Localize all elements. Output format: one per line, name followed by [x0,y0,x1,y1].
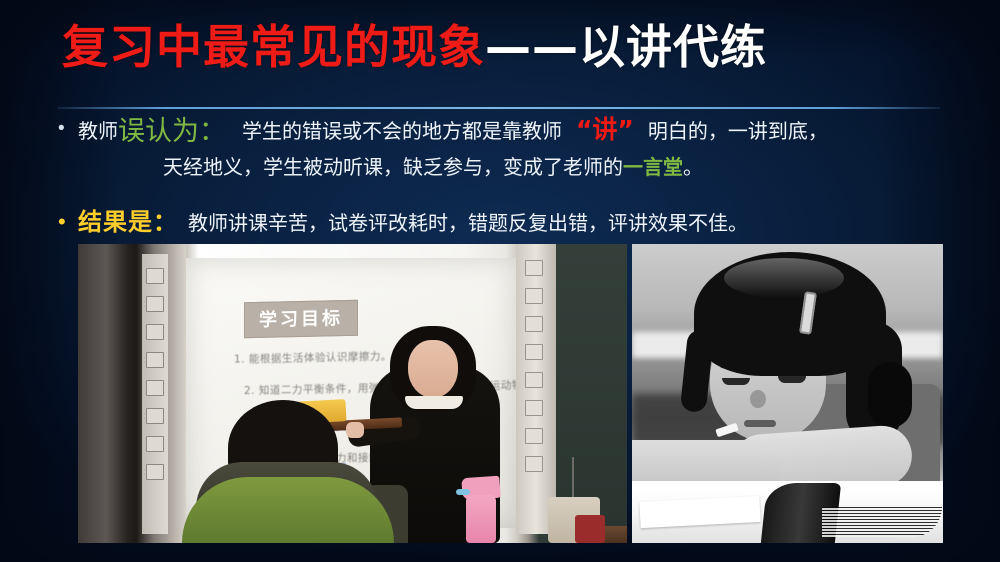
bullet-item-result: • 结果是：教师讲课辛苦，试卷评改耗时，错题反复出错，评讲效果不佳。 [58,204,958,243]
girl-hair-highlight [724,258,844,298]
page-title: 复习中最常见的现象——以讲代练 [62,22,767,73]
whiteboard-tool-icon [525,372,543,388]
bored-student-photo [632,244,943,543]
spray-bottle [466,495,496,543]
bezel-icon [146,380,164,396]
whiteboard-tool-icon [525,316,543,332]
whiteboard-tool-icon [525,288,543,304]
slide-canvas: 复习中最常见的现象——以讲代练 • 教师误认为：学生的错误或不会的地方都是靠教师… [0,0,1000,562]
bullet1-emphasis-yiyantang: 一言堂 [623,155,683,179]
bullet-marker-result: • [58,204,78,240]
title-divider [58,107,940,109]
bullet-marker: • [58,112,78,146]
spray-bottle-trigger [456,489,470,495]
red-object [575,515,605,543]
whiteboard-tool-icon [525,260,543,276]
teacher-collar [405,396,463,409]
bullet1-lead-green: 误认为： [118,116,226,147]
bezel-icon [146,324,164,340]
bullet1-line2-body-a: 天经地义，学生被动听课，缺乏参与，变成了老师的 [163,155,623,179]
whiteboard-line-1: 1. 能根据生活体验认识摩擦力。 [234,348,392,366]
girl-eye-right [778,376,806,383]
teacher-hand [346,422,364,438]
girl-mouth [744,420,776,427]
girl-nose [750,390,766,408]
classroom-photo: 学习目标 1. 能根据生活体验认识摩擦力。 2. 知道二力平衡条件，用弹簧测力计… [78,244,627,543]
whiteboard-heading: 学习目标 [244,300,358,338]
bullet-item-misconception: • 教师误认为：学生的错误或不会的地方都是靠教师“讲”明白的，一讲到底， 天经地… [58,112,958,186]
bullet2-label: 结果是： [78,208,178,236]
bezel-icon [146,436,164,452]
bezel-icon [146,352,164,368]
bullet1-emphasis-jiang: “讲” [572,115,638,144]
title-red-part: 复习中最常见的现象 [62,20,485,74]
bullet1-body-a: 学生的错误或不会的地方都是靠教师 [242,119,562,143]
whiteboard-tool-icon [525,344,543,360]
photo-row: 学习目标 1. 能根据生活体验认识摩擦力。 2. 知道二力平衡条件，用弹簧测力计… [78,244,943,543]
bezel-icon [146,268,164,284]
whiteboard-tool-icon [525,456,543,472]
content-body: • 教师误认为：学生的错误或不会的地方都是靠教师“讲”明白的，一讲到底， 天经地… [58,112,958,243]
bezel-icon [146,464,164,480]
bullet1-line2-body-b: 。 [683,155,703,179]
bullet1-body-b: 明白的，一讲到底， [648,119,828,143]
whiteboard-tool-icon [525,400,543,416]
title-white-part: ——以讲代练 [485,20,767,74]
bullet2-line: 结果是：教师讲课辛苦，试卷评改耗时，错题反复出错，评讲效果不佳。 [78,204,958,243]
chalkboard [556,244,627,526]
bezel-icon [146,408,164,424]
teacher-face [408,340,458,398]
girl-braid-right-lower [868,362,912,428]
student-jacket [182,477,394,543]
bullet2-text: 教师讲课辛苦，试卷评改耗时，错题反复出错，评讲效果不佳。 [188,211,748,235]
bullet1-line2: 天经地义，学生被动听课，缺乏参与，变成了老师的一言堂。 [78,150,958,186]
book-pages-fan [822,507,942,537]
display-left-bezel [78,244,186,543]
bezel-icon [146,296,164,312]
whiteboard-tool-icon [525,428,543,444]
bullet1-lead-white: 教师 [78,119,118,143]
bullet1-line1: 教师误认为：学生的错误或不会的地方都是靠教师“讲”明白的，一讲到底， [78,112,958,150]
girl-eye-left [722,378,750,385]
